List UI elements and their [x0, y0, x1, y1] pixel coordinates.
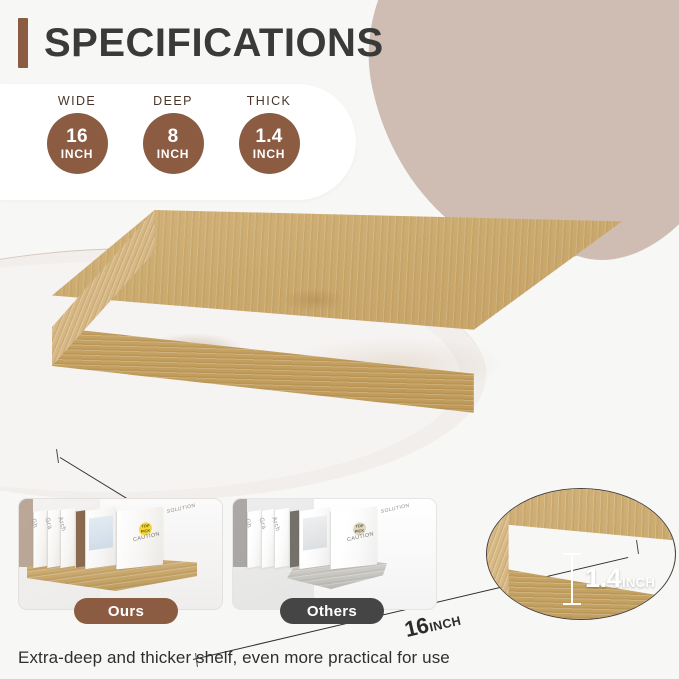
spec-value: 16 [66, 127, 88, 146]
spec-unit: INCH [253, 148, 286, 160]
spec-list: WIDE 16 INCH DEEP 8 INCH THICK 1.4 INCH [40, 94, 306, 174]
thickness-dimension-line [571, 553, 573, 605]
spec-value: 8 [168, 127, 179, 146]
main-shelf-illustration: 8 INCH 16 INCH [0, 195, 679, 495]
thickness-unit: INCH [622, 575, 655, 590]
spec-item-wide: WIDE 16 INCH [40, 94, 114, 174]
comparison-panel-ours: Gh Gra Arch SOLUTION TOP PICK CAUTION [18, 498, 223, 610]
spec-label: WIDE [58, 94, 96, 108]
spec-item-thick: THICK 1.4 INCH [232, 94, 306, 174]
shelf-3d-body [52, 210, 622, 510]
book-spine-text: Gh [29, 518, 38, 530]
product-spec-infographic: SPECIFICATIONS WIDE 16 INCH DEEP 8 INCH … [0, 0, 679, 679]
book-top-text: SOLUTION [381, 509, 382, 516]
spec-item-deep: DEEP 8 INCH [136, 94, 210, 174]
book-cover-art [89, 515, 113, 550]
book-item: Arch [274, 508, 289, 568]
label-pill-ours: Ours [74, 598, 178, 624]
book-item [85, 507, 116, 569]
spec-badge: 1.4 INCH [239, 113, 300, 174]
comparison-row: Gh Gra Arch SOLUTION TOP PICK CAUTION [0, 498, 679, 646]
label-pill-others: Others [280, 598, 384, 624]
thickness-detail-circle: 1.4 INCH [486, 488, 676, 620]
spec-unit: INCH [61, 148, 94, 160]
book-item: SOLUTION TOP PICK CAUTION [116, 507, 163, 570]
book-spine-text: Gh [243, 518, 252, 530]
page-title: SPECIFICATIONS [44, 23, 384, 63]
caution-text: CAUTION [133, 531, 160, 543]
accent-bar-icon [18, 18, 28, 68]
spec-badge: 8 INCH [143, 113, 204, 174]
book-item: Arch [60, 508, 75, 568]
thickness-tick-bottom [563, 603, 581, 605]
bottom-caption: Extra-deep and thicker shelf, even more … [18, 648, 450, 668]
spec-value: 1.4 [255, 127, 282, 146]
thickness-dimension-label: 1.4 INCH [585, 563, 655, 594]
book-item: SOLUTION TOP PICK CAUTION [330, 507, 377, 570]
comparison-panel-others: Gh Gra Arch SOLUTION TOP PICK CAUTION [232, 498, 437, 610]
book-item [289, 510, 299, 568]
book-item [299, 507, 330, 569]
book-item [75, 510, 85, 568]
spec-label: THICK [247, 94, 292, 108]
caution-text: CAUTION [347, 531, 374, 543]
spec-badge: 16 INCH [47, 113, 108, 174]
book-cover-art [303, 515, 327, 550]
thickness-tick-top [563, 553, 581, 555]
spec-label: DEEP [153, 94, 193, 108]
specifications-card: WIDE 16 INCH DEEP 8 INCH THICK 1.4 INCH [0, 84, 356, 200]
book-top-text: SOLUTION [167, 509, 168, 516]
spec-unit: INCH [157, 148, 190, 160]
thickness-value: 1.4 [585, 563, 621, 594]
books-group-ours: Gh Gra Arch SOLUTION TOP PICK CAUTION [31, 505, 161, 567]
books-group-others: Gh Gra Arch SOLUTION TOP PICK CAUTION [245, 505, 375, 567]
header: SPECIFICATIONS [18, 18, 384, 68]
